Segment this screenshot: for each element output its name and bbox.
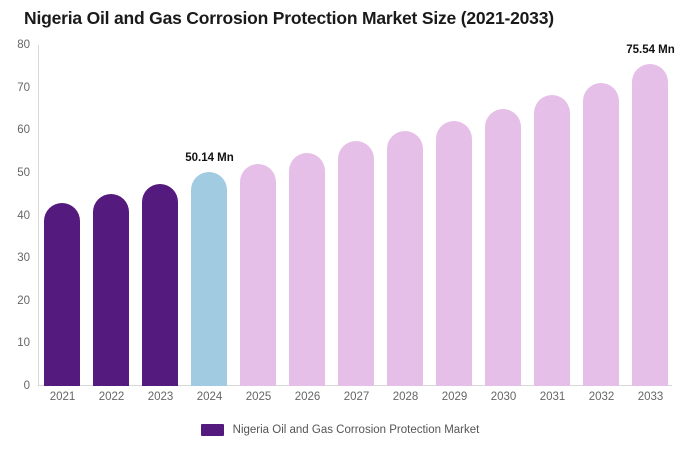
y-axis-tick-label: 0 xyxy=(24,380,30,392)
x-axis-tick-label-2022: 2022 xyxy=(87,391,136,403)
bar-2033[interactable] xyxy=(632,64,668,386)
chart-container: Nigeria Oil and Gas Corrosion Protection… xyxy=(0,0,680,450)
bar-2025[interactable] xyxy=(240,164,276,386)
x-axis-labels: 2021202220232024202520262027202820292030… xyxy=(38,391,672,409)
y-axis-tick-label: 30 xyxy=(17,252,30,264)
x-axis-tick-label-2023: 2023 xyxy=(136,391,185,403)
bar-2021[interactable] xyxy=(44,203,80,386)
bar-2030[interactable] xyxy=(485,109,521,386)
y-axis-tick-label: 80 xyxy=(17,39,30,51)
bar-slot xyxy=(479,45,528,386)
bar-slot xyxy=(38,45,87,386)
x-axis-tick-label-2030: 2030 xyxy=(479,391,528,403)
x-axis-tick-label-2025: 2025 xyxy=(234,391,283,403)
x-axis-tick-label-2031: 2031 xyxy=(528,391,577,403)
bar-slot xyxy=(136,45,185,386)
bar-value-label-2024: 50.14 Mn xyxy=(185,152,234,164)
bar-2028[interactable] xyxy=(387,131,423,386)
bar-2023[interactable] xyxy=(142,184,178,386)
bar-slot xyxy=(87,45,136,386)
x-axis-tick-label-2028: 2028 xyxy=(381,391,430,403)
y-axis-tick-label: 20 xyxy=(17,295,30,307)
bar-2026[interactable] xyxy=(289,153,325,386)
x-axis-tick-label-2033: 2033 xyxy=(626,391,675,403)
bar-slot xyxy=(283,45,332,386)
legend-label: Nigeria Oil and Gas Corrosion Protection… xyxy=(233,424,480,436)
bar-2022[interactable] xyxy=(93,194,129,386)
x-axis-tick-label-2032: 2032 xyxy=(577,391,626,403)
bar-2032[interactable] xyxy=(583,83,619,386)
bar-slot xyxy=(577,45,626,386)
chart-legend: Nigeria Oil and Gas Corrosion Protection… xyxy=(0,424,680,436)
bar-2024[interactable] xyxy=(191,172,227,386)
x-axis-tick-label-2024: 2024 xyxy=(185,391,234,403)
bar-2031[interactable] xyxy=(534,95,570,386)
y-axis-tick-label: 10 xyxy=(17,337,30,349)
x-axis-tick-label-2021: 2021 xyxy=(38,391,87,403)
bar-slot xyxy=(332,45,381,386)
bar-slot xyxy=(528,45,577,386)
y-axis-tick-label: 60 xyxy=(17,124,30,136)
y-axis-tick-label: 40 xyxy=(17,210,30,222)
y-axis-labels: 01020304050607080 xyxy=(0,45,30,386)
x-axis-tick-label-2026: 2026 xyxy=(283,391,332,403)
x-axis-tick-label-2029: 2029 xyxy=(430,391,479,403)
legend-swatch xyxy=(201,424,224,436)
bar-value-label-2033: 75.54 Mn xyxy=(626,44,675,56)
bar-2027[interactable] xyxy=(338,141,374,386)
bar-2029[interactable] xyxy=(436,121,472,386)
y-axis-tick-label: 50 xyxy=(17,167,30,179)
chart-title: Nigeria Oil and Gas Corrosion Protection… xyxy=(24,8,554,29)
bars-layer: 50.14 Mn75.54 Mn xyxy=(38,45,672,386)
bar-slot: 75.54 Mn xyxy=(626,45,675,386)
bar-slot xyxy=(430,45,479,386)
y-axis-tick-label: 70 xyxy=(17,82,30,94)
bar-slot: 50.14 Mn xyxy=(185,45,234,386)
bar-slot xyxy=(234,45,283,386)
x-axis-tick-label-2027: 2027 xyxy=(332,391,381,403)
bar-slot xyxy=(381,45,430,386)
